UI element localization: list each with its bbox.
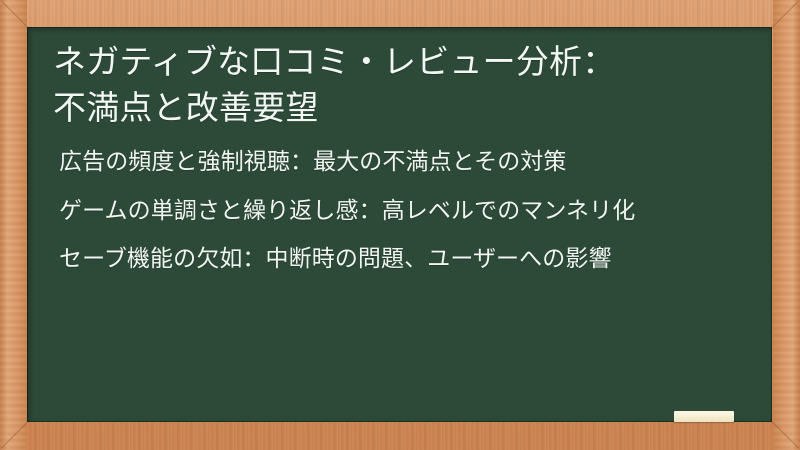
bullet-item-2: ゲームの単調さと繰り返し感：高レベルでのマンネリ化	[59, 195, 746, 228]
slide-title: ネガティブな口コミ・レビュー分析： 不満点と改善要望	[53, 37, 746, 130]
chalkboard-slide: ネガティブな口コミ・レビュー分析： 不満点と改善要望 広告の頻度と強制視聴：最大…	[0, 0, 800, 450]
bullet-item-1: 広告の頻度と強制視聴：最大の不満点とその対策	[59, 146, 746, 179]
bullet-list: 広告の頻度と強制視聴：最大の不満点とその対策 ゲームの単調さと繰り返し感：高レベ…	[53, 146, 746, 276]
chalkboard-surface: ネガティブな口コミ・レビュー分析： 不満点と改善要望 広告の頻度と強制視聴：最大…	[27, 27, 772, 422]
frame-rail-right	[773, 0, 800, 450]
chalkboard-content: ネガティブな口コミ・レビュー分析： 不満点と改善要望 広告の頻度と強制視聴：最大…	[27, 27, 772, 422]
frame-rail-left	[0, 0, 27, 450]
bullet-item-3: セーブ機能の欠如：中断時の問題、ユーザーへの影響	[59, 243, 746, 276]
chalk-stick-icon	[674, 411, 734, 422]
